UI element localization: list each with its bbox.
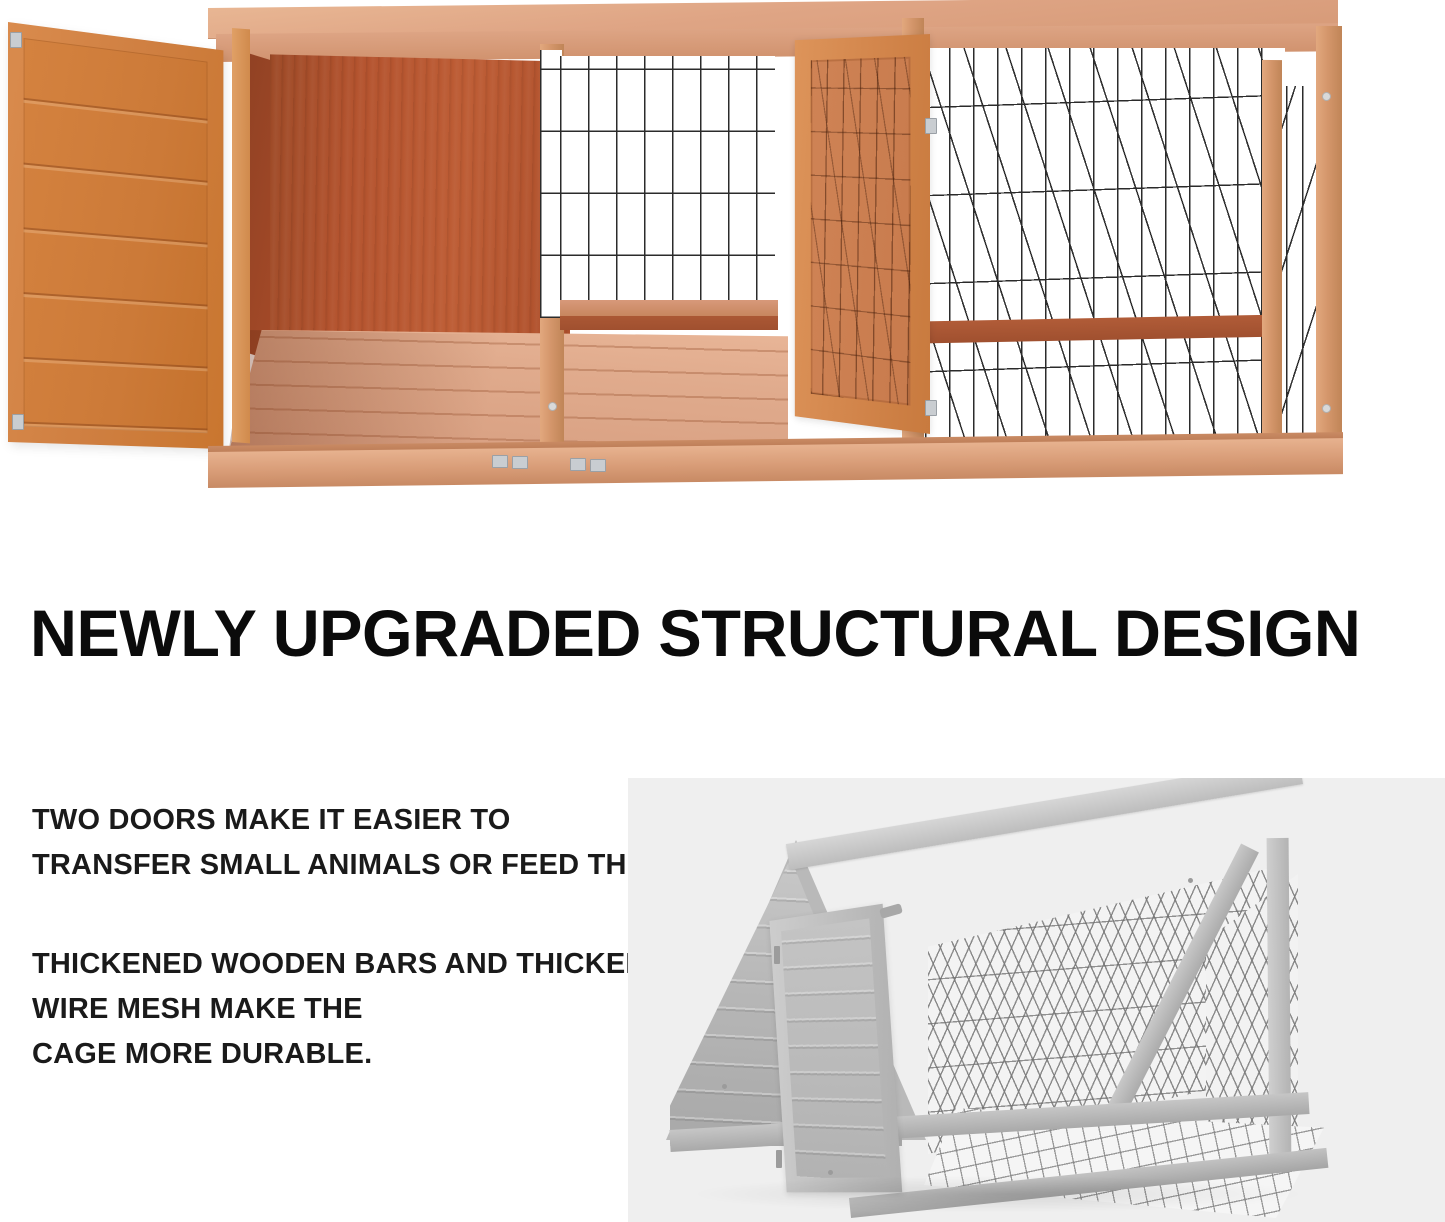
wire-mesh-panel-sliver: [540, 50, 562, 318]
aframe-right-edge-post: [1267, 838, 1292, 1168]
product-ground-shadow: [698, 1176, 1298, 1212]
wire-mesh-run-side: [925, 48, 1285, 448]
secondary-product-image: [628, 778, 1445, 1222]
mesh-horizontal-wires: [540, 50, 562, 318]
page-headline: NEWLY UPGRADED STRUCTURAL DESIGN: [30, 600, 1409, 666]
copy-line: TWO DOORS MAKE IT EASIER TO: [32, 798, 612, 843]
screw-icon: [722, 1084, 727, 1089]
mesh-diagonal-wires: [811, 57, 911, 406]
hinge-icon: [774, 946, 780, 964]
hutch-run-inner-post: [1262, 60, 1282, 440]
hinge-icon: [10, 32, 22, 48]
screw-icon: [1322, 404, 1331, 413]
hinge-icon: [776, 1150, 782, 1168]
aframe-door-panel: [781, 918, 887, 1178]
floor-shadow: [228, 330, 528, 456]
copy-line: THICKENED WOODEN BARS AND THICKER: [32, 942, 612, 987]
copy-line: TRANSFER SMALL ANIMALS OR FEED THEM.: [32, 843, 612, 888]
copy-line: CAGE MORE DURABLE.: [32, 1032, 612, 1077]
screw-icon: [828, 1170, 833, 1175]
hinge-icon: [925, 400, 937, 416]
feature-paragraph-thickened-bars: THICKENED WOODEN BARS AND THICKER WIRE M…: [32, 942, 612, 1077]
hinge-icon: [570, 458, 586, 471]
hinge-icon: [590, 459, 606, 472]
slat-door-panel: [24, 38, 208, 433]
slat-door-open[interactable]: [8, 22, 223, 449]
mesh-door-pane: [811, 57, 911, 406]
screw-icon: [1322, 92, 1331, 101]
feature-paragraph-two-doors: TWO DOORS MAKE IT EASIER TO TRANSFER SMA…: [32, 798, 612, 888]
slat-door-edge: [232, 28, 250, 443]
hutch-interior-back-wall: [270, 54, 570, 361]
screw-icon: [1188, 878, 1193, 883]
wire-mesh-panel-front: [560, 56, 775, 318]
hero-product-image: [0, 0, 1445, 540]
hinge-icon: [512, 456, 528, 469]
aframe-slat-door-open[interactable]: [769, 904, 902, 1193]
hutch-mid-rail-highlight: [560, 300, 778, 316]
aframe-hutch: [628, 778, 1445, 1222]
feature-copy-block: TWO DOORS MAKE IT EASIER TO TRANSFER SMA…: [32, 798, 612, 1077]
aframe-ridge-beam: [786, 778, 1303, 870]
hinge-icon: [492, 455, 508, 468]
mesh-horizontal-wires: [925, 48, 1285, 448]
screw-icon: [548, 402, 557, 411]
mesh-door-open[interactable]: [795, 34, 930, 434]
copy-line: WIRE MESH MAKE THE: [32, 987, 612, 1032]
hinge-icon: [12, 414, 24, 430]
hinge-icon: [925, 118, 937, 134]
wood-grain-texture: [270, 54, 570, 361]
mesh-horizontal-wires: [560, 56, 775, 318]
